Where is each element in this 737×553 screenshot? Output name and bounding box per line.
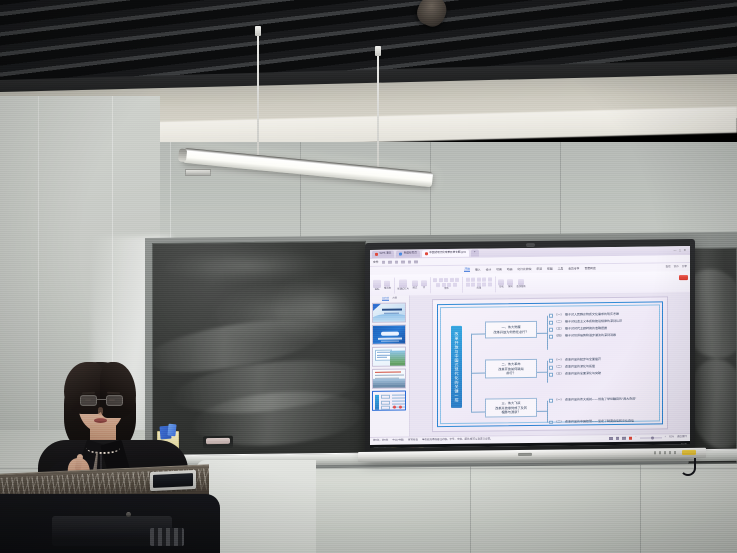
tray-badge bbox=[682, 450, 696, 455]
font-family-icon[interactable] bbox=[433, 278, 437, 282]
section-icon[interactable] bbox=[421, 280, 427, 286]
find-replace-icon[interactable] bbox=[518, 279, 524, 285]
ribbon-label-arrange: 排列 bbox=[508, 286, 513, 288]
sorter-view-icon[interactable] bbox=[616, 437, 620, 441]
format-painter-icon[interactable] bbox=[384, 281, 390, 287]
lens-right bbox=[106, 395, 123, 406]
ribbon-tab-review[interactable]: 审阅 bbox=[536, 267, 542, 270]
folder-icon[interactable] bbox=[418, 447, 424, 448]
branch-3-sub-1-marker: （二） bbox=[555, 420, 564, 423]
wall-vent bbox=[185, 169, 211, 176]
spine-stub-2 bbox=[471, 373, 485, 374]
align-center-icon[interactable] bbox=[471, 283, 475, 287]
print-icon[interactable] bbox=[388, 260, 392, 264]
shape-icon[interactable] bbox=[498, 279, 504, 285]
zoom-in-button[interactable]: + bbox=[665, 437, 666, 440]
glasses-bridge bbox=[97, 399, 106, 400]
ribbon-label-shape: 形状 bbox=[499, 286, 504, 288]
ribbon-group-arrange[interactable]: 排列 bbox=[507, 279, 513, 288]
lectern-fastener bbox=[126, 512, 131, 517]
ribbon-separator-2 bbox=[430, 277, 431, 293]
brush-icon[interactable] bbox=[408, 260, 412, 264]
mouth bbox=[94, 418, 107, 423]
ribbon-label-section: 节 bbox=[423, 287, 425, 289]
branch-1-sub-1-marker: （二） bbox=[555, 321, 564, 324]
dropdown-icon[interactable] bbox=[414, 260, 418, 264]
tab-slides[interactable]: 幻灯片 bbox=[382, 298, 389, 301]
maximize-icon[interactable]: □ bbox=[679, 249, 681, 252]
new-tab-label: + bbox=[474, 252, 476, 255]
ribbon-tab-design[interactable]: 设计 bbox=[486, 268, 492, 271]
spine-stub-1 bbox=[471, 334, 485, 335]
slide-thumbnail-2[interactable]: 2 bbox=[372, 325, 406, 345]
wps-tab-2[interactable]: 中国式现代化改革开放专题.pptx bbox=[422, 250, 469, 258]
tab-icon-2 bbox=[425, 252, 428, 255]
redo-icon[interactable] bbox=[401, 260, 405, 264]
ribbon-group-paragraph[interactable]: 段落 bbox=[466, 278, 492, 291]
search-icon[interactable] bbox=[382, 447, 388, 448]
wps-tab-label-2: 中国式现代化改革开放专题.pptx bbox=[429, 252, 466, 255]
sub-marker-box bbox=[549, 314, 553, 318]
sub-marker-box bbox=[549, 359, 553, 363]
ribbon-label-paste: 粘贴 bbox=[375, 289, 380, 291]
necklace bbox=[86, 442, 120, 454]
slide-counter: 第5张，共5张 bbox=[373, 440, 388, 443]
para-controls-row2[interactable] bbox=[466, 283, 492, 287]
sub-marker-box bbox=[549, 321, 553, 325]
editor-body: 幻灯片 大纲 1 2 bbox=[370, 292, 690, 437]
hair-front-left bbox=[64, 362, 104, 414]
branch-3-sub-0-text: 改革开放的伟大成就——创造了举世瞩目的"两大奇迹" bbox=[565, 398, 636, 402]
file-menu-button[interactable]: 文件 bbox=[373, 261, 379, 264]
branch-3-link bbox=[537, 411, 547, 412]
spine-stub-3 bbox=[471, 412, 485, 413]
slide-thumbnail-pane[interactable]: 幻灯片 大纲 1 2 bbox=[370, 295, 410, 436]
language-indicator[interactable]: 中文(中国) bbox=[392, 440, 404, 443]
save-button[interactable] bbox=[679, 275, 688, 280]
current-slide[interactable]: 改革开放与中国式现代化的关键一招 一、伟大觉醒 bbox=[432, 296, 668, 432]
ribbon-tab-insert[interactable]: 插入 bbox=[475, 268, 481, 271]
zoom-slider[interactable] bbox=[640, 437, 662, 438]
branch-2[interactable]: 二、伟大革命 改革开放如何破局 前行？ bbox=[485, 359, 537, 379]
branch-1-sub-0-marker: （一） bbox=[555, 314, 564, 317]
close-icon[interactable]: ✕ bbox=[683, 249, 686, 252]
paste-icon[interactable] bbox=[373, 280, 381, 288]
undo-icon[interactable] bbox=[395, 260, 399, 264]
align-right-icon[interactable] bbox=[477, 283, 481, 287]
thumb-pane-tabs[interactable]: 幻灯片 大纲 bbox=[372, 297, 407, 301]
built-in-camera-icon bbox=[526, 243, 535, 247]
ribbon-group-painter[interactable]: 格式刷 bbox=[384, 281, 391, 290]
ribbon-tab-home[interactable]: 开始 bbox=[464, 268, 470, 272]
bold-icon[interactable] bbox=[444, 278, 448, 282]
ribbon-tab-animation[interactable]: 动画 bbox=[507, 268, 513, 271]
branch-1-heading-2: 改革开放为何势在必行？ bbox=[493, 330, 528, 334]
status-right-group[interactable]: − + 62% 适应窗口 bbox=[609, 436, 687, 440]
explorer-icon[interactable] bbox=[391, 447, 397, 448]
display-screen[interactable]: WPS 演示 新建标签页 中国式现代化改革开放专题.pptx + — □ ✕ bbox=[370, 246, 690, 448]
indent-decrease-icon[interactable] bbox=[477, 278, 481, 282]
chalkboard-right bbox=[688, 247, 737, 464]
wps-tab-1[interactable]: 新建标签页 bbox=[396, 250, 419, 257]
light-rod-right bbox=[377, 56, 379, 178]
branch-1-sub-list[interactable]: （一） 基于对人民群众物质文化需求的现实考察 （二） 基于对社会主义本质和建设规… bbox=[549, 313, 622, 338]
tab-outline[interactable]: 大纲 bbox=[392, 298, 397, 301]
ribbon-group-find[interactable]: 查找替换 bbox=[516, 279, 525, 288]
branch-1-sub-0[interactable]: （一） 基于对人民群众物质文化需求的现实考察 bbox=[549, 313, 622, 317]
tray-vent bbox=[654, 451, 676, 454]
char-spacing-icon[interactable] bbox=[453, 283, 457, 287]
branch-3-sub-0[interactable]: （一） 改革开放的伟大成就——创造了举世瞩目的"两大奇迹" bbox=[549, 398, 636, 403]
fit-window-button[interactable]: 适应窗口 bbox=[677, 436, 687, 439]
lens-left bbox=[80, 395, 97, 406]
brand-plate bbox=[518, 453, 532, 456]
sub-marker-box bbox=[549, 335, 553, 339]
branch-3-rail bbox=[547, 401, 548, 423]
arrange-icon[interactable] bbox=[507, 279, 513, 285]
notes-hint[interactable]: 单击此处添加备注内容，字号、字体、颜色 都可以自定义设置。 bbox=[422, 439, 493, 442]
slide-title: 改革开放与中国式现代化的关键一招 bbox=[455, 332, 459, 402]
reading-view-icon[interactable] bbox=[622, 437, 626, 441]
branch-2-sub-0[interactable]: （一） 改革开放的起步与全面展开 bbox=[549, 358, 601, 362]
new-slide-icon[interactable] bbox=[399, 279, 407, 287]
zoom-out-button[interactable]: − bbox=[635, 437, 636, 440]
window-controls[interactable]: — □ ✕ bbox=[674, 249, 688, 252]
new-tab-button[interactable]: + bbox=[471, 250, 479, 257]
indent-increase-icon[interactable] bbox=[482, 278, 486, 282]
mindmap-diagram: 一、伟大觉醒 改革开放为何势在必行？ （一） 基于对人民群众物质 bbox=[467, 311, 658, 421]
bullets-icon[interactable] bbox=[466, 278, 470, 282]
ribbon-tab-tools[interactable]: 工具 bbox=[558, 267, 564, 270]
para-controls-row1[interactable] bbox=[466, 278, 492, 282]
ribbon-separator-1 bbox=[394, 277, 395, 293]
branch-3-sub-1-text: 改革开放的中国智慧——坚定了制度自信和文化自信 bbox=[565, 419, 634, 423]
zoom-level[interactable]: 62% bbox=[669, 436, 674, 439]
branch-2-sub-2-text: 改革开放的全面深化与突破 bbox=[565, 372, 601, 375]
ribbon-group-layout[interactable]: 版式 bbox=[412, 280, 418, 289]
ribbon-group-paste[interactable]: 粘贴 bbox=[373, 280, 381, 291]
branch-3-heading-3: 根脉与源泉？ bbox=[501, 410, 520, 414]
ribbon-label-paragraph: 段落 bbox=[477, 288, 482, 290]
branch-2-sub-2-marker: （三） bbox=[555, 373, 564, 376]
light-rod-left bbox=[257, 36, 259, 166]
branch-2-sub-2[interactable]: （三） 改革开放的全面深化与突破 bbox=[549, 372, 601, 376]
branch-2-rail bbox=[547, 361, 548, 383]
numbering-icon[interactable] bbox=[471, 278, 475, 282]
light-rod-cap-left bbox=[255, 26, 261, 36]
slide-thumbnail-4[interactable]: 4 bbox=[372, 369, 406, 389]
wps-icon[interactable] bbox=[409, 447, 415, 448]
slide-thumbnail-5[interactable]: 5 bbox=[372, 391, 406, 411]
slide-title-bar: 改革开放与中国式现代化的关键一招 bbox=[451, 326, 462, 408]
browser-icon[interactable] bbox=[400, 447, 406, 448]
clock-time: 15:36 bbox=[681, 443, 687, 446]
font-color-icon[interactable] bbox=[436, 283, 440, 287]
wps-tab-label-0: WPS 演示 bbox=[380, 253, 392, 256]
ribbon-separator-3 bbox=[462, 276, 463, 292]
align-left-icon[interactable] bbox=[466, 283, 470, 287]
layout-icon[interactable] bbox=[412, 280, 418, 286]
branch-1-sub-3[interactable]: （四） 基于对世界局势和进步潮流的深刻洞察 bbox=[549, 334, 622, 338]
start-icon[interactable] bbox=[373, 447, 379, 448]
ribbon-label-painter: 格式刷 bbox=[384, 288, 391, 290]
nose bbox=[98, 407, 103, 415]
branch-2-heading-3: 前行？ bbox=[506, 371, 516, 375]
board-eraser[interactable] bbox=[203, 436, 233, 449]
classroom-photo: WPS 演示 新建标签页 中国式现代化改革开放专题.pptx + — □ ✕ bbox=[0, 0, 737, 553]
slide-thumbnail-1[interactable]: 1 bbox=[372, 303, 406, 323]
ribbon-group-font[interactable]: 字体 bbox=[433, 278, 459, 291]
highlight-icon[interactable] bbox=[442, 283, 446, 287]
branch-3[interactable]: 三、伟大飞跃 改革开放缘何成了及其 根脉与源泉？ bbox=[485, 398, 537, 418]
ribbon-label-newslide: 新建幻灯片 bbox=[397, 288, 409, 290]
branch-3-node[interactable]: 三、伟大飞跃 改革开放缘何成了及其 根脉与源泉？ bbox=[485, 398, 537, 418]
underline-icon[interactable] bbox=[455, 278, 459, 282]
collab-button[interactable]: 协作 bbox=[674, 266, 679, 269]
slideshow-icon[interactable] bbox=[629, 436, 633, 440]
share-button[interactable]: 分享 bbox=[682, 266, 687, 269]
ribbon-tab-netdisk[interactable]: 百度网盘 bbox=[584, 267, 595, 270]
ribbon-tab-view[interactable]: 视图 bbox=[547, 267, 553, 270]
save-icon[interactable] bbox=[382, 261, 386, 265]
branch-1-sub-1-text: 基于对社会主义本质和建设规律的深刻认识 bbox=[565, 320, 622, 324]
slide-editing-stage[interactable]: 改革开放与中国式现代化的关键一招 一、伟大觉醒 bbox=[410, 292, 690, 436]
find-button[interactable]: 查找 bbox=[665, 266, 670, 269]
italic-icon[interactable] bbox=[450, 278, 454, 282]
branch-1-link bbox=[537, 333, 547, 334]
ribbon-label-font: 字体 bbox=[444, 288, 449, 290]
sub-marker-box bbox=[549, 420, 553, 424]
normal-view-icon[interactable] bbox=[609, 437, 613, 441]
ribbon-tab-transition[interactable]: 切换 bbox=[496, 268, 502, 271]
ribbon-group-newslide[interactable]: 新建幻灯片 bbox=[397, 279, 409, 290]
tab-icon-1 bbox=[399, 253, 402, 256]
line-spacing-icon[interactable] bbox=[488, 278, 492, 282]
interactive-flat-panel[interactable]: WPS 演示 新建标签页 中国式现代化改革开放专题.pptx + — □ ✕ bbox=[365, 239, 695, 456]
branch-1-sub-3-text: 基于对世界局势和进步潮流的深刻洞察 bbox=[565, 334, 616, 338]
branch-1-sub-2-text: 基于对时代主题转换的准确把握 bbox=[565, 327, 607, 331]
ribbon-group-section[interactable]: 节 bbox=[421, 280, 427, 289]
tab-icon-0 bbox=[375, 253, 378, 256]
lectern-equipment-rack bbox=[150, 528, 184, 546]
branch-2-sub-0-marker: （一） bbox=[555, 359, 564, 362]
branch-2-sub-1[interactable]: （二） 改革开放的深化与拓展 bbox=[549, 365, 601, 369]
branch-1-sub-1[interactable]: （二） 基于对社会主义本质和建设规律的深刻认识 bbox=[549, 320, 622, 324]
ribbon-label-find: 查找替换 bbox=[516, 286, 525, 288]
branch-2-node[interactable]: 二、伟大革命 改革开放如何破局 前行？ bbox=[485, 359, 537, 379]
branch-1-sub-3-marker: （四） bbox=[555, 335, 564, 338]
branch-1-sub-0-text: 基于对人民群众物质文化需求的现实考察 bbox=[565, 313, 619, 317]
hair-front-right bbox=[100, 362, 136, 418]
branch-2-sub-1-text: 改革开放的深化与拓展 bbox=[565, 365, 595, 368]
minimize-icon[interactable]: — bbox=[674, 249, 677, 252]
ribbon-tab-slideshow[interactable]: 幻灯片放映 bbox=[517, 268, 531, 271]
ribbon-tab-member[interactable]: 会员专享 bbox=[568, 267, 579, 270]
justify-icon[interactable] bbox=[482, 283, 486, 287]
ribbon-separator-4 bbox=[495, 276, 496, 292]
ribbon-right-actions[interactable]: 查找 协作 分享 bbox=[665, 266, 687, 269]
branch-1-sub-2-marker: （三） bbox=[555, 328, 564, 331]
font-controls-row2[interactable] bbox=[436, 283, 457, 287]
wps-tab-label-1: 新建标签页 bbox=[404, 253, 417, 256]
glasses-icon bbox=[79, 395, 124, 406]
branch-3-sub-list[interactable]: （一） 改革开放的伟大成就——创造了举世瞩目的"两大奇迹" （二） 改革开放的中… bbox=[549, 398, 636, 424]
branch-3-sub-0-marker: （一） bbox=[555, 399, 564, 402]
branch-1[interactable]: 一、伟大觉醒 改革开放为何势在必行？ bbox=[485, 321, 537, 339]
display-cable bbox=[680, 458, 696, 476]
font-size-icon[interactable] bbox=[439, 278, 443, 282]
branch-2-link bbox=[537, 372, 547, 373]
ribbon-label-layout: 版式 bbox=[413, 287, 418, 289]
lectern-control-panel[interactable] bbox=[150, 470, 196, 491]
branch-1-rail bbox=[547, 316, 548, 350]
branch-1-sub-2[interactable]: （三） 基于对时代主题转换的准确把握 bbox=[549, 327, 622, 331]
light-rod-cap-right bbox=[375, 46, 381, 56]
branch-2-sub-1-marker: （二） bbox=[555, 366, 564, 369]
sub-marker-box bbox=[549, 373, 553, 377]
branch-2-sub-list[interactable]: （一） 改革开放的起步与全面展开 （二） 改革开放的深化与拓展 bbox=[549, 358, 601, 376]
spellcheck-indicator[interactable]: 拼写检查 bbox=[408, 440, 418, 443]
ribbon-group-shape[interactable]: 形状 bbox=[498, 279, 504, 288]
font-controls-row1[interactable] bbox=[433, 278, 459, 282]
branch-1-node[interactable]: 一、伟大觉醒 改革开放为何势在必行？ bbox=[485, 321, 537, 339]
columns-icon[interactable] bbox=[488, 283, 492, 287]
slide-thumbnail-3[interactable]: 3 bbox=[372, 347, 406, 367]
clear-format-icon[interactable] bbox=[447, 283, 451, 287]
sub-marker-box bbox=[549, 328, 553, 332]
sub-marker-box bbox=[549, 399, 553, 403]
sub-marker-box bbox=[549, 366, 553, 370]
branch-2-sub-0-text: 改革开放的起步与全面展开 bbox=[565, 358, 601, 361]
wps-tab-0[interactable]: WPS 演示 bbox=[372, 251, 394, 258]
